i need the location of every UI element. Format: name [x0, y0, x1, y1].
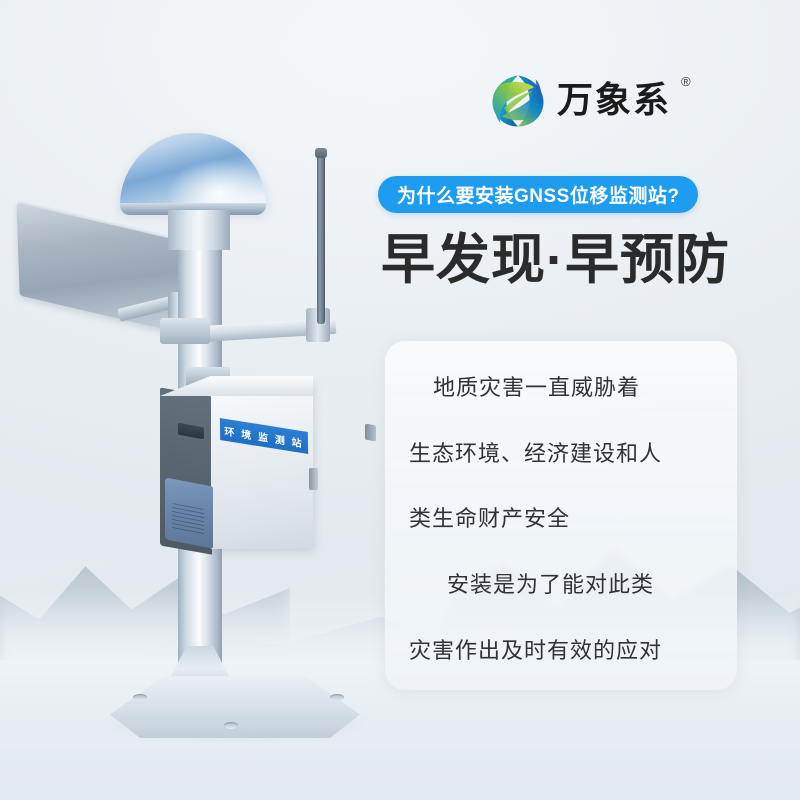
whip-antenna: [317, 152, 325, 324]
base-bolt-hole-left: [133, 694, 147, 701]
description-line-4: 安装是为了能对此类: [409, 572, 711, 598]
page-title: 早发现·早预防: [381, 229, 730, 291]
description-line-3: 类生命财产安全: [409, 506, 711, 532]
base-bolt-hole-front: [224, 722, 238, 729]
base-bolt-hole-right: [330, 694, 344, 701]
monitoring-station-illustration: 环 境 监 测 站: [0, 0, 400, 800]
whip-antenna-cap: [315, 148, 327, 158]
description-line-5: 灾害作出及时有效的应对: [409, 638, 711, 664]
question-banner: 为什么要安装GNSS位移监测站?: [378, 176, 698, 213]
description-line-1: 地质灾害一直威胁着: [409, 375, 711, 401]
enclosure-front-panel: [211, 381, 313, 549]
gnss-antenna-dome: [120, 133, 266, 211]
gnss-antenna-neck: [168, 210, 230, 250]
brand-name: 万象系: [557, 83, 671, 119]
brand-logo: 万象系 ®: [489, 72, 691, 130]
base-plate: [110, 676, 360, 738]
description-line-2: 生态环境、经济建设和人: [409, 441, 711, 467]
cross-arm-bracket: [160, 318, 210, 344]
globe-swirl-logo-icon: [489, 72, 547, 130]
enclosure-latch: [309, 468, 318, 490]
enclosure-hinge-upper: [365, 424, 376, 442]
registered-trademark-icon: ®: [681, 74, 691, 89]
poster-canvas: 环 境 监 测 站: [0, 0, 800, 800]
description-card: 地质灾害一直威胁着 生态环境、经济建设和人 类生命财产安全 安装是为了能对此类 …: [385, 341, 737, 690]
